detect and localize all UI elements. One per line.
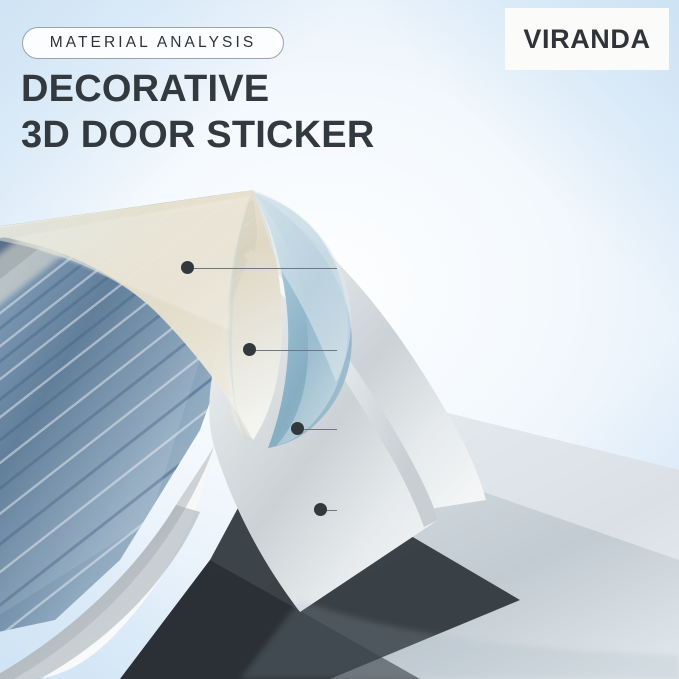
callout-dot-3[interactable] bbox=[291, 422, 304, 435]
callout-leader-2 bbox=[255, 350, 337, 351]
page-title: DECORATIVE 3D DOOR STICKER bbox=[21, 66, 491, 158]
callout-leader-3 bbox=[303, 429, 337, 430]
brand-name: VIRANDA bbox=[523, 24, 650, 55]
callout-leader-1 bbox=[193, 268, 337, 269]
callout-leader-4 bbox=[326, 510, 337, 511]
material-analysis-poster: MATERIAL ANALYSIS DECORATIVE 3D DOOR STI… bbox=[0, 0, 679, 679]
callout-dot-4[interactable] bbox=[314, 503, 327, 516]
title-line-2: 3D DOOR STICKER bbox=[21, 112, 491, 158]
eyebrow-label: MATERIAL ANALYSIS bbox=[50, 34, 257, 52]
title-line-1: DECORATIVE bbox=[21, 66, 491, 112]
eyebrow-pill: MATERIAL ANALYSIS bbox=[22, 27, 284, 59]
callout-dot-2[interactable] bbox=[243, 343, 256, 356]
brand-logo: VIRANDA bbox=[505, 8, 669, 70]
callout-dot-1[interactable] bbox=[181, 261, 194, 274]
